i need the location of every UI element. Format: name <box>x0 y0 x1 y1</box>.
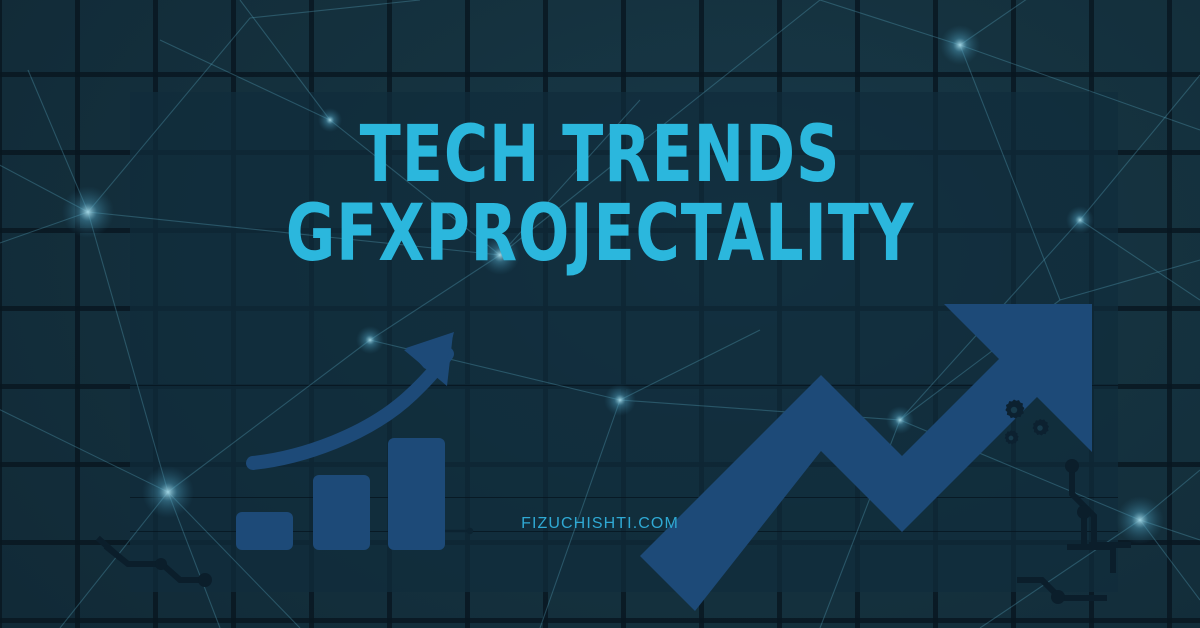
circuit-trace-bottom-left <box>100 540 212 587</box>
watermark-url: FIZUCHISHTI.COM <box>0 515 1200 533</box>
banner-canvas: TECH TRENDS GFXPROJECTALITY FIZUCHISHTI.… <box>0 0 1200 628</box>
circuit-traces <box>0 0 1200 628</box>
